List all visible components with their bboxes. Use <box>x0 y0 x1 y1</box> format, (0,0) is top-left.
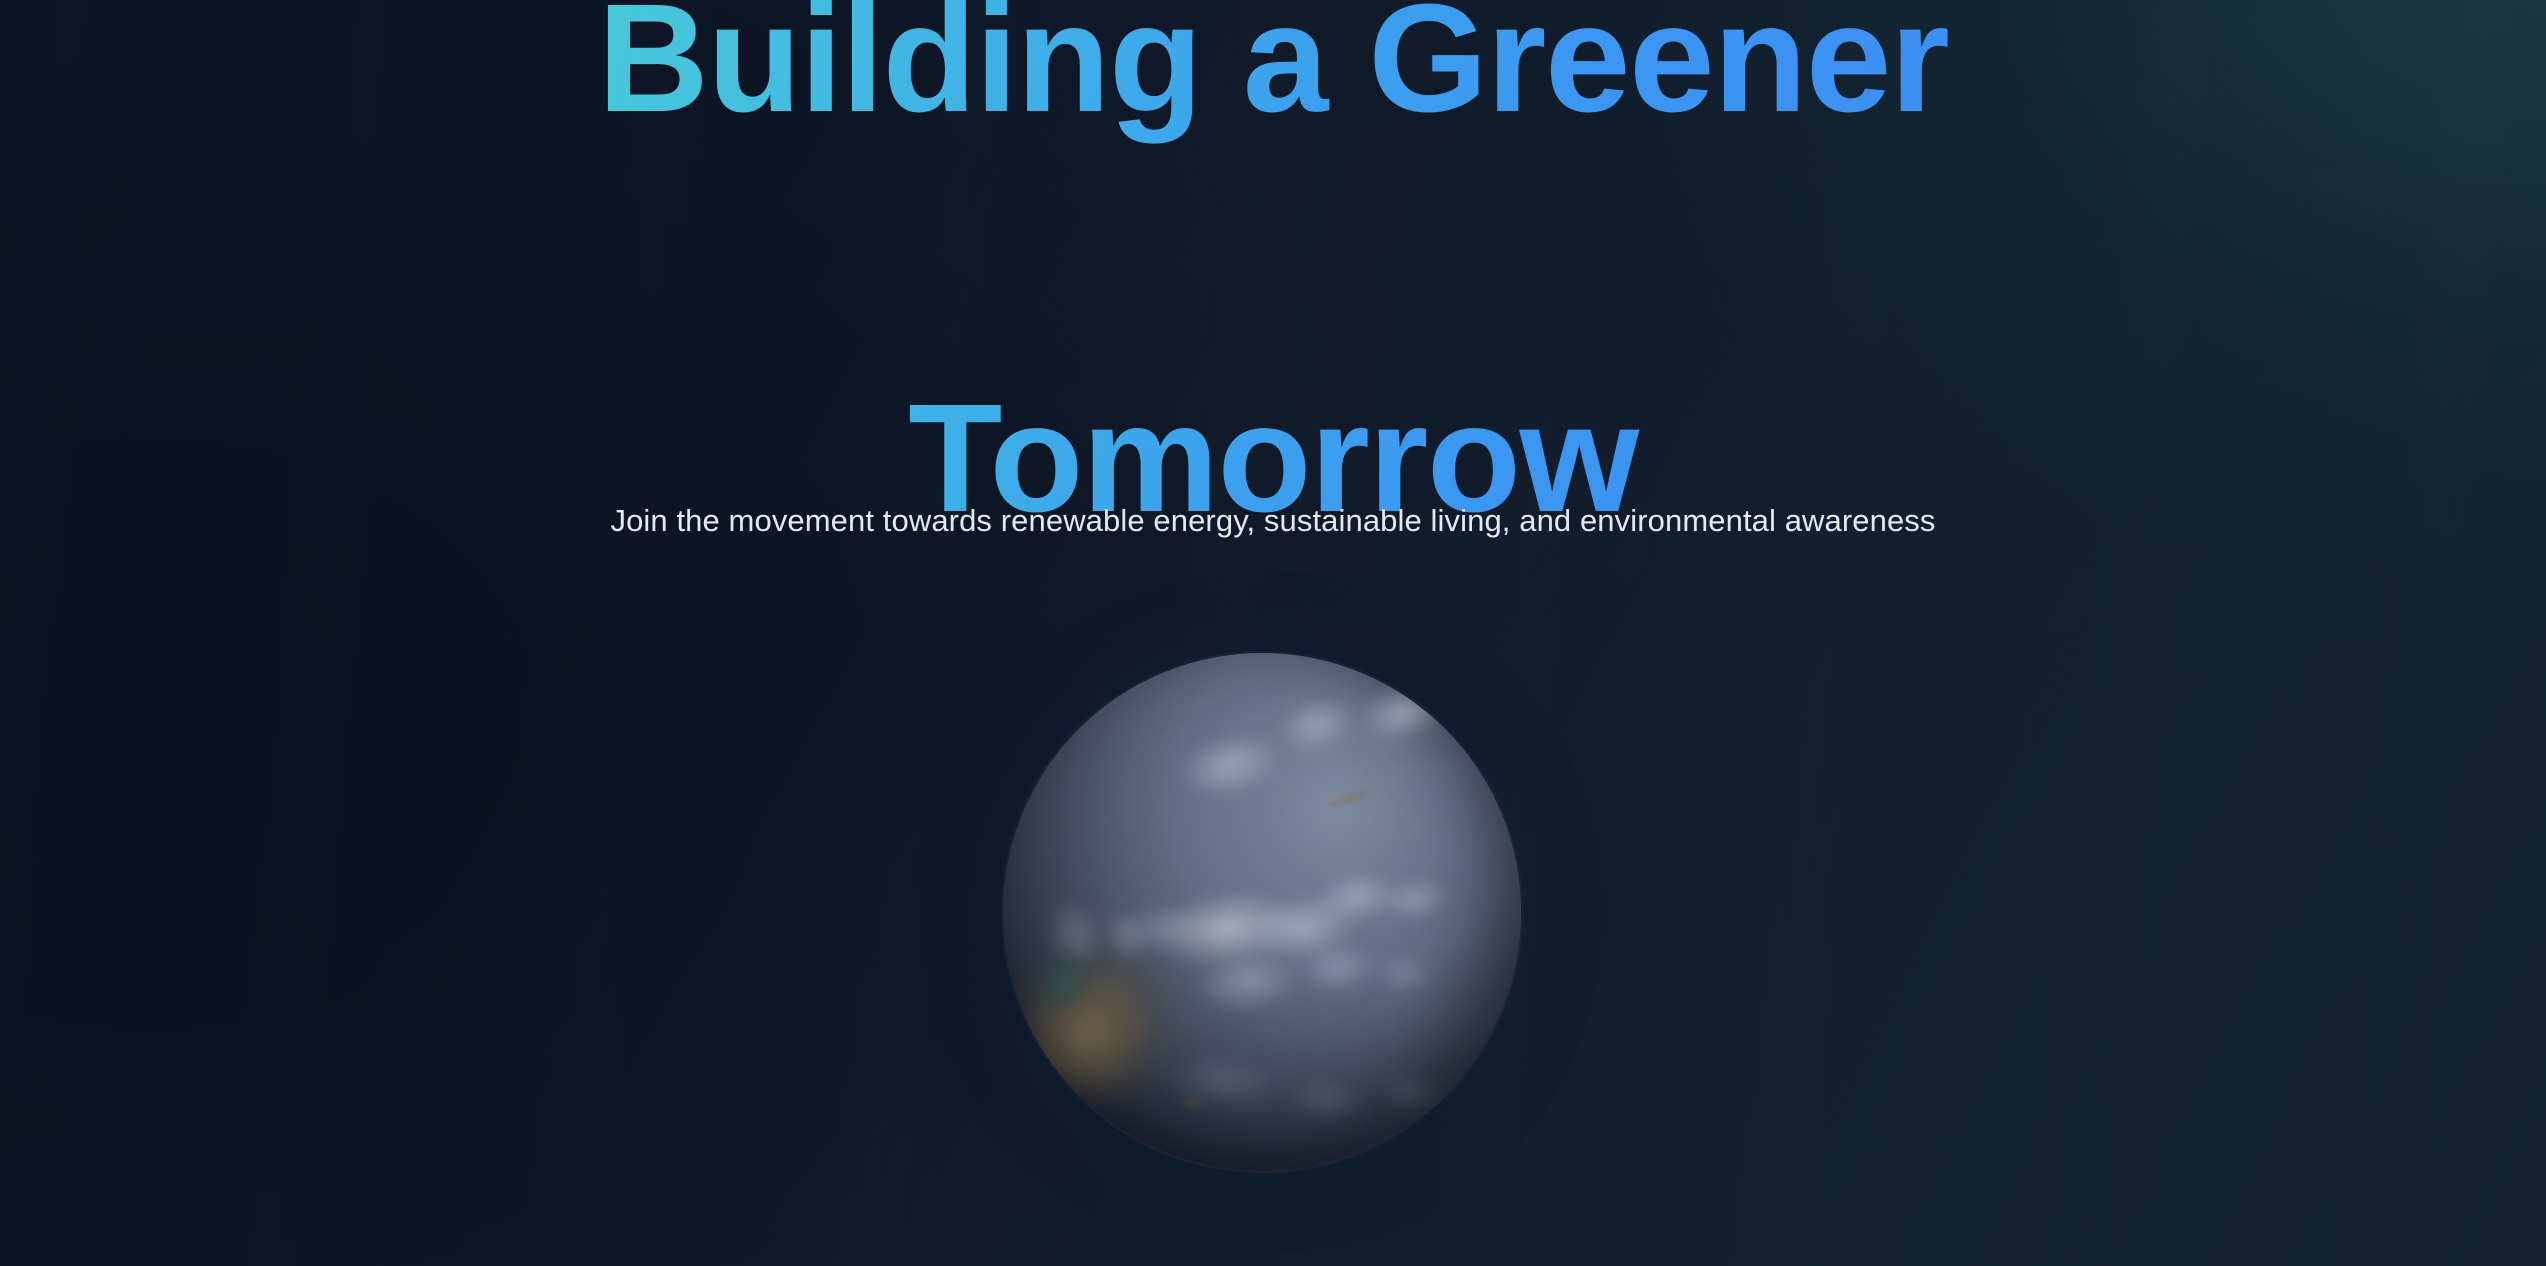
hero-content: Building a GreenerTomorrow Join the move… <box>0 0 2546 1266</box>
globe-sphere <box>1003 653 1521 1171</box>
page-title: Building a GreenerTomorrow <box>0 0 2546 559</box>
headline-line-1: Building a Greener <box>598 0 1949 144</box>
earth-globe-icon <box>1003 653 1521 1171</box>
hero-section: Building a GreenerTomorrow Join the move… <box>0 0 2546 1266</box>
hero-subtitle: Join the movement towards renewable ener… <box>0 497 2546 545</box>
globe-rim-light-warm <box>1003 653 1521 1171</box>
